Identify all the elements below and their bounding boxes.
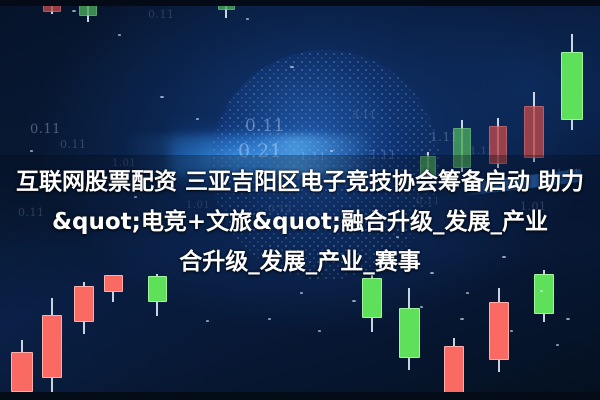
particle-dot (290, 66, 294, 68)
particle-dot (466, 292, 469, 294)
candlestick-body (399, 308, 420, 358)
bottom-edge-bar (0, 392, 600, 400)
candlestick-down (74, 282, 94, 334)
headline-line-1: 互联网股票配资 三亚吉阳区电子竞技协会筹备启动 助力 (0, 162, 600, 202)
candlestick-down (42, 298, 62, 400)
top-edge-bar (0, 0, 600, 6)
particle-dot (268, 318, 271, 320)
particle-dot (30, 150, 33, 152)
particle-dot (206, 320, 209, 322)
background-number: 0.11 (60, 138, 87, 151)
stock-news-banner: 0.110.110.110.211.113.111.111.110.111.01… (0, 0, 600, 400)
candlestick-up (399, 288, 420, 370)
background-number: 0.11 (30, 122, 61, 137)
candlestick-body (561, 52, 583, 120)
particle-dot (318, 330, 321, 332)
particle-dot (72, 10, 76, 12)
particle-dot (352, 300, 356, 302)
candlestick-body (524, 106, 544, 158)
particle-dot (420, 306, 423, 308)
headline-line-2: &quot;电竞+文旅&quot;融合升级_发展_产业 (0, 202, 600, 242)
candlestick-body (489, 302, 509, 360)
particle-dot (160, 96, 164, 98)
particle-dot (246, 18, 249, 20)
candlestick-body (362, 278, 382, 318)
background-number: 3.11 (352, 110, 376, 121)
particle-dot (566, 318, 570, 320)
particle-dot (460, 318, 464, 320)
particle-dot (556, 344, 559, 346)
candlestick-down (524, 92, 544, 162)
candlestick-up (561, 34, 583, 130)
candlestick-body (42, 315, 62, 378)
background-number: 0.11 (148, 8, 175, 21)
candlestick-body (444, 346, 464, 398)
particle-dot (510, 330, 513, 332)
background-number: 0.11 (245, 116, 285, 136)
particle-dot (330, 150, 333, 152)
particle-dot (118, 34, 121, 36)
candlestick-up (362, 275, 382, 332)
particle-dot (540, 290, 543, 292)
particle-dot (300, 292, 303, 294)
headline-text: 互联网股票配资 三亚吉阳区电子竞技协会筹备启动 助力 &quot;电竞+文旅&q… (0, 162, 600, 282)
headline-line-3: 合升级_发展_产业_赛事 (0, 242, 600, 282)
particle-dot (196, 118, 199, 120)
candlestick-down (11, 340, 33, 400)
candlestick-down (444, 338, 464, 400)
candlestick-body (11, 352, 33, 392)
candlestick-down (489, 288, 509, 372)
candlestick-body (74, 286, 94, 322)
